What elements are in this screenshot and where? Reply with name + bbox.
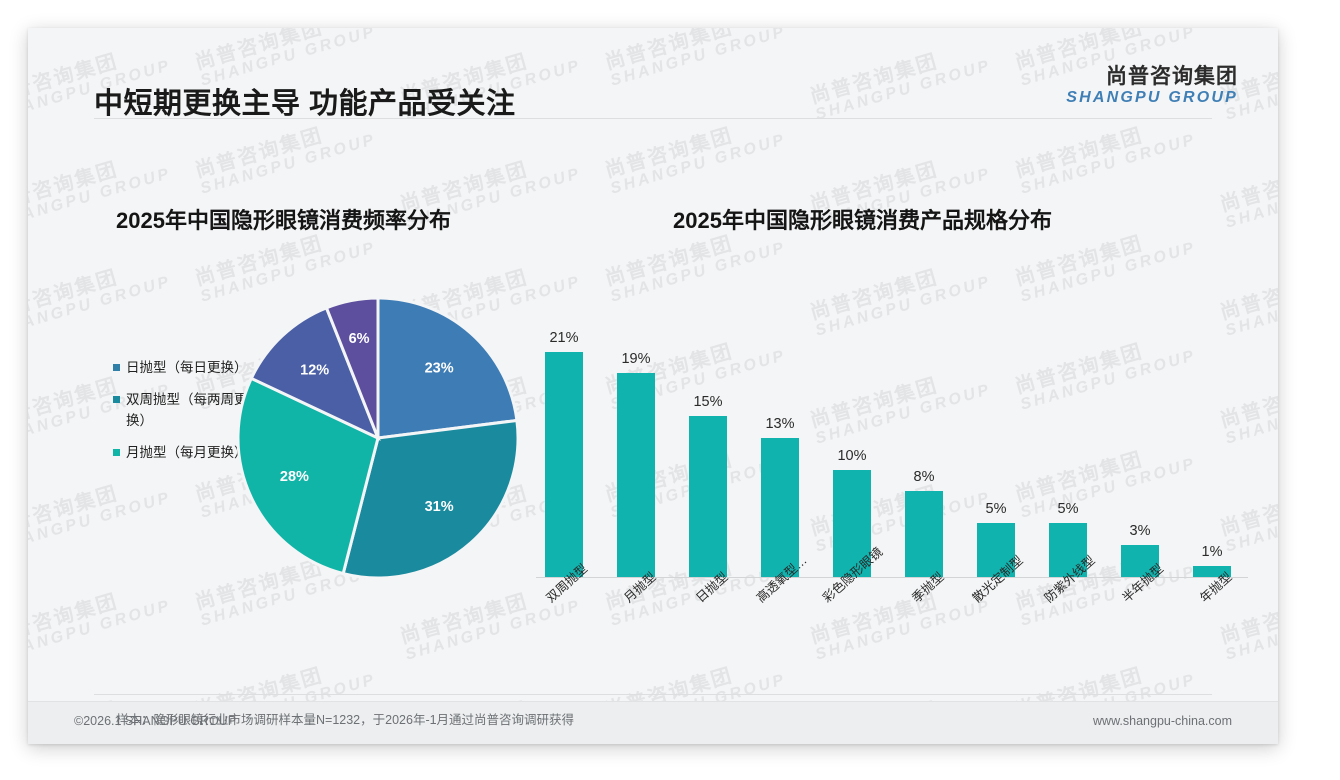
legend-swatch-icon (113, 449, 120, 456)
logo-text-en: SHANGPU GROUP (1066, 88, 1238, 107)
pie-legend-item[interactable]: 日抛型（每日更换） (113, 358, 248, 379)
pie-legend: 日抛型（每日更换）双周抛型（每两周更换）月抛型（每月更换） (113, 358, 248, 475)
bar-value-label: 5% (1058, 501, 1079, 517)
bar-column[interactable]: 13% (744, 289, 816, 577)
bar-column[interactable]: 8% (888, 289, 960, 577)
legend-swatch-icon (113, 396, 120, 403)
pie-legend-item[interactable]: 月抛型（每月更换） (113, 443, 248, 464)
slide: 尚普咨询集团SHANGPU GROUP尚普咨询集团SHANGPU GROUP尚普… (28, 28, 1278, 744)
watermark-text: 尚普咨询集团SHANGPU GROUP (1013, 112, 1198, 199)
bar-x-label-cell: 月抛型 (600, 590, 672, 650)
page-title: 中短期更换主导 功能产品受关注 (94, 80, 516, 122)
website-link[interactable]: www.shangpu-china.com (1093, 714, 1232, 728)
watermark-text: 尚普咨询集团SHANGPU GROUP (1218, 146, 1278, 233)
slide-header: 中短期更换主导 功能产品受关注 尚普咨询集团 SHANGPU GROUP (28, 28, 1278, 120)
bar-column[interactable]: 5% (1032, 289, 1104, 577)
bar-value-label: 13% (765, 416, 794, 432)
bar-plot-area: 21%19%15%13%10%8%5%5%3%1% 双周抛型月抛型日抛型高透氧型… (528, 288, 1248, 578)
pie-slice-value: 12% (300, 362, 329, 378)
bar-chart-title: 2025年中国隐形眼镜消费产品规格分布 (673, 203, 1052, 235)
footnote-divider (94, 694, 1212, 695)
bar-value-label: 21% (549, 330, 578, 346)
watermark-text: 尚普咨询集团SHANGPU GROUP (193, 112, 378, 199)
pie-slice-value: 23% (425, 361, 454, 377)
bar-value-label: 5% (986, 501, 1007, 517)
bar-x-label-cell: 半年抛型 (1104, 590, 1176, 650)
bar-x-label-cell: 季抛型 (888, 590, 960, 650)
bar-value-label: 3% (1130, 523, 1151, 539)
bar-value-label: 19% (621, 351, 650, 367)
footnote: 样本：隐形眼镜行业市场调研样本量N=1232，于2026年-1月通过尚普咨询调研… (116, 709, 574, 728)
pie-chart: 日抛型（每日更换）双周抛型（每两周更换）月抛型（每月更换） 23%31%28%1… (88, 283, 558, 603)
header-divider (94, 118, 1212, 119)
bar-x-label-cell: 防紫外线型 (1032, 590, 1104, 650)
bar-rect[interactable] (905, 491, 943, 577)
bar-rect[interactable] (545, 352, 583, 577)
bar-value-label: 15% (693, 394, 722, 410)
bar-column[interactable]: 10% (816, 289, 888, 577)
pie-legend-label: 日抛型（每日更换） (126, 358, 248, 379)
bar-column[interactable]: 5% (960, 289, 1032, 577)
pie-chart-svg: 23%31%28%12%6% (233, 293, 523, 583)
bar-column[interactable]: 19% (600, 289, 672, 577)
pie-chart-title: 2025年中国隐形眼镜消费频率分布 (116, 203, 451, 235)
watermark-text: 尚普咨询集团SHANGPU GROUP (603, 112, 788, 199)
pie-slice-value: 6% (349, 331, 370, 347)
bar-rect[interactable] (617, 373, 655, 577)
pie-legend-label: 双周抛型（每两周更换） (126, 390, 248, 432)
pie-slice-value: 28% (280, 469, 309, 485)
legend-swatch-icon (113, 364, 120, 371)
bar-chart: 21%19%15%13%10%8%5%5%3%1% 双周抛型月抛型日抛型高透氧型… (518, 278, 1258, 618)
bar-column[interactable]: 15% (672, 289, 744, 577)
bar-x-label-cell: 彩色隐形眼镜 (816, 590, 888, 650)
logo-text-cn: 尚普咨询集团 (1066, 65, 1238, 88)
bar-column[interactable]: 21% (528, 289, 600, 577)
bar-x-axis-labels: 双周抛型月抛型日抛型高透氧型…彩色隐形眼镜季抛型散光定制型防紫外线型半年抛型年抛… (528, 590, 1248, 650)
bar-column[interactable]: 3% (1104, 289, 1176, 577)
bar-x-label-cell: 日抛型 (672, 590, 744, 650)
bar-column[interactable]: 1% (1176, 289, 1248, 577)
bar-x-label-cell: 散光定制型 (960, 590, 1032, 650)
bar-value-label: 10% (837, 448, 866, 464)
pie-legend-label: 月抛型（每月更换） (126, 443, 248, 464)
bar-series: 21%19%15%13%10%8%5%5%3%1% (528, 289, 1248, 577)
bar-value-label: 1% (1202, 544, 1223, 560)
pie-slice-value: 31% (425, 499, 454, 515)
bar-value-label: 8% (914, 469, 935, 485)
company-logo: 尚普咨询集团 SHANGPU GROUP (1066, 65, 1238, 107)
bar-rect[interactable] (689, 416, 727, 577)
bar-x-label-cell: 双周抛型 (528, 590, 600, 650)
bar-x-label-cell: 年抛型 (1176, 590, 1248, 650)
bar-x-label-cell: 高透氧型… (744, 590, 816, 650)
pie-legend-item[interactable]: 双周抛型（每两周更换） (113, 390, 248, 432)
